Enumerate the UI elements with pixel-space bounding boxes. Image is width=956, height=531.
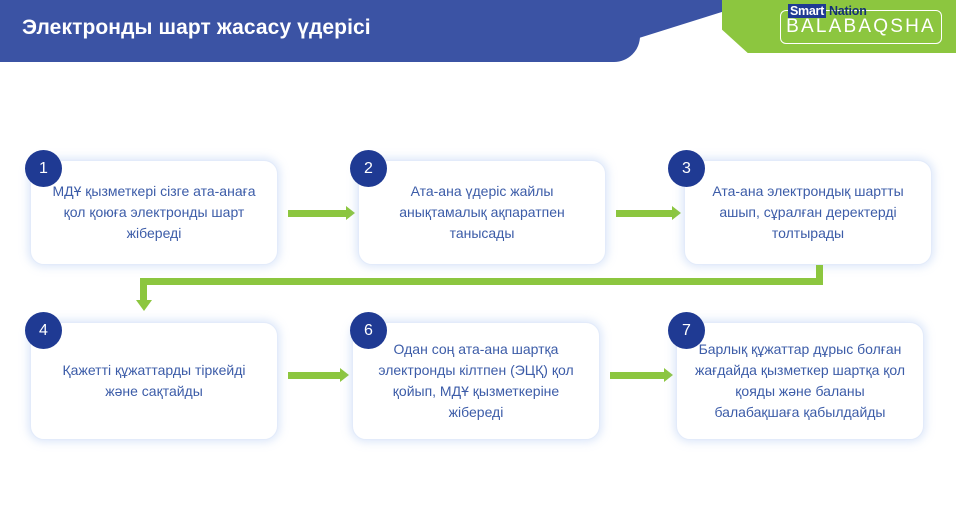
connector-arrowhead-1-to-2 [346,206,355,220]
connector-elbow-arrowhead-down [136,300,152,311]
page-header: Электронды шарт жасасу үдерісі Smart Nat… [0,0,956,70]
connector-elbow-horizontal [140,278,823,285]
connector-arrow-6-to-7 [610,372,664,379]
flow-step-text: Ата-ана үдеріс жайлы анықтамалық ақпарат… [359,181,605,244]
flow-step-text: Барлық құжаттар дұрыс болған жағдайда қы… [677,339,923,423]
brand-logo: Smart Nation BALABAQSHA [774,3,946,49]
flow-step-text: Қажетті құжаттарды тіркейді және сақтайд… [31,360,277,402]
flow-step-node: Барлық құжаттар дұрыс болған жағдайда қы… [676,322,924,440]
flow-step-badge: 2 [350,150,387,187]
flow-step-badge: 7 [668,312,705,349]
connector-elbow-vertical-left [140,278,147,302]
flow-step-text: Ата-ана электрондық шартты ашып, сұралға… [685,181,931,244]
flow-step-badge: 4 [25,312,62,349]
flow-step-badge: 6 [350,312,387,349]
process-flow-diagram: МДҰ қызметкері сізге ата-анаға қол қоюға… [0,70,956,531]
flow-step-text: Одан соң ата-ана шартқа электронды кілтп… [353,339,599,423]
connector-arrow-4-to-6 [288,372,340,379]
page-title: Электронды шарт жасасу үдерісі [22,16,371,40]
connector-arrowhead-4-to-6 [340,368,349,382]
connector-arrowhead-6-to-7 [664,368,673,382]
flow-step-node: МДҰ қызметкері сізге ата-анаға қол қоюға… [30,160,278,265]
connector-arrowhead-2-to-3 [672,206,681,220]
connector-arrow-2-to-3 [616,210,672,217]
flow-step-text: МДҰ қызметкері сізге ата-анаға қол қоюға… [31,181,277,244]
flow-step-node: Қажетті құжаттарды тіркейді және сақтайд… [30,322,278,440]
flow-step-node: Ата-ана үдеріс жайлы анықтамалық ақпарат… [358,160,606,265]
flow-step-badge: 3 [668,150,705,187]
logo-product-text: BALABAQSHA [780,16,942,38]
flow-step-badge: 1 [25,150,62,187]
flow-step-node: Одан соң ата-ана шартқа электронды кілтп… [352,322,600,440]
flow-step-node: Ата-ана электрондық шартты ашып, сұралға… [684,160,932,265]
connector-arrow-1-to-2 [288,210,346,217]
